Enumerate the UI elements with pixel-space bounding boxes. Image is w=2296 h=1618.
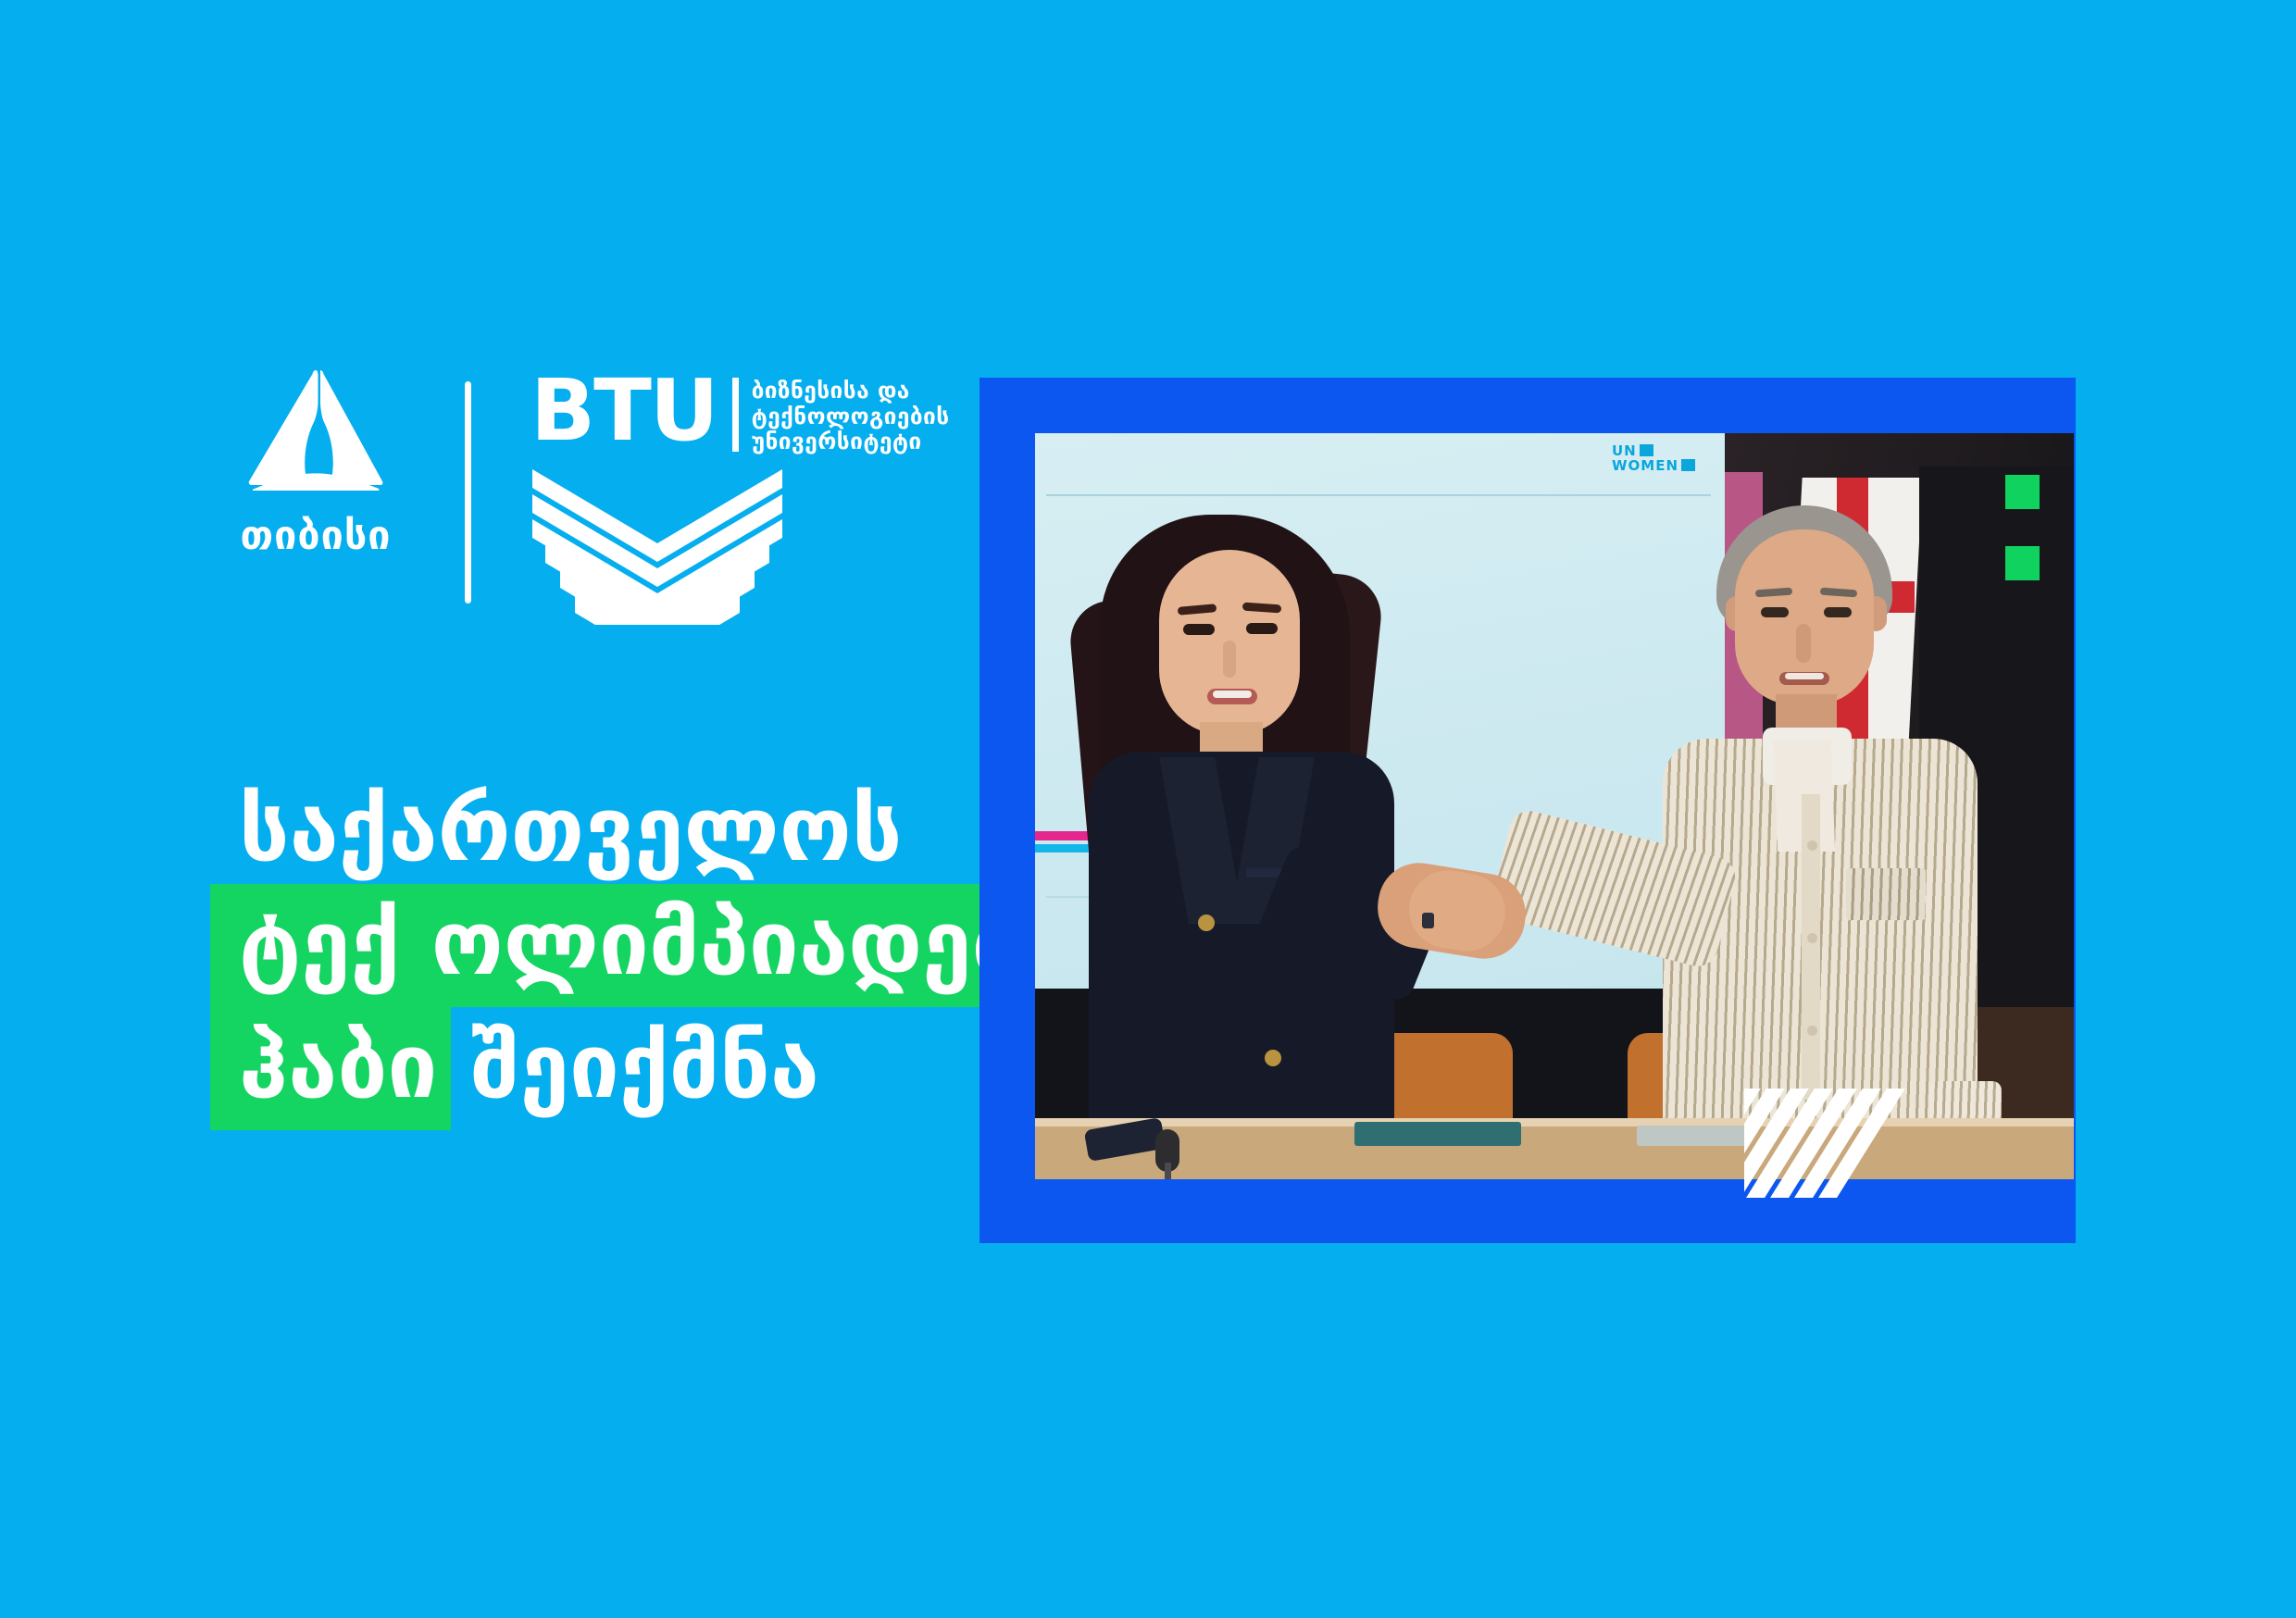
green-square-accent-2: [2005, 546, 2040, 580]
btu-subtitle: ბიზნესისა და ტექნოლოგიების უნივერსიტეტი: [752, 376, 950, 454]
headline-line-3-rest: შეიქმნა: [451, 1013, 819, 1121]
photo-scene: UN WOMEN <epam>: [1035, 433, 2074, 1179]
woman-eye-left: [1183, 624, 1215, 635]
man-shirt-pocket: [1846, 868, 1926, 920]
tbc-logo-block: თიბისი: [218, 368, 413, 556]
man-nose: [1796, 624, 1811, 663]
man-shirt-button-3: [1807, 1026, 1817, 1036]
man-shirt-button-1: [1807, 840, 1817, 851]
btu-subtitle-line-3: უნივერსიტეტი: [752, 428, 922, 454]
man-eye-left: [1761, 607, 1789, 617]
tbc-triangle-logo: [242, 368, 390, 491]
woman-ring: [1422, 913, 1434, 928]
handshake-photo: UN WOMEN <epam>: [1035, 433, 2074, 1179]
woman-teeth: [1213, 691, 1252, 698]
logo-divider: [465, 381, 471, 604]
signing-folder: [1354, 1122, 1521, 1146]
woman-nose: [1223, 641, 1236, 678]
un-women-logo-chip-2: [1681, 459, 1695, 471]
btu-logo-block: BTU ბიზნესისა და ტექნოლოგიების უნივერსიტ…: [530, 376, 950, 625]
brand-lockup: თიბისი BTU ბიზნესისა და ტექნოლოგიების უნ…: [218, 368, 950, 625]
woman-blazer-button-1: [1198, 915, 1215, 931]
btu-subtitle-line-1: ბიზნესისა და: [752, 377, 910, 404]
btu-inner-divider: [732, 378, 739, 452]
man-teeth: [1785, 673, 1824, 679]
btu-subtitle-line-2: ტექნოლოგიების: [752, 403, 950, 429]
tbc-logo-name: თიბისი: [241, 517, 392, 556]
screen-rule-top: [1046, 494, 1711, 496]
headline-line-3-highlight: ჰაბი: [210, 1007, 451, 1130]
woman-blazer-button-3: [1265, 1050, 1281, 1066]
man-shirt-button-2: [1807, 933, 1817, 943]
un-women-logo-women: WOMEN: [1612, 457, 1678, 474]
green-square-accent-1: [2005, 475, 2040, 509]
btu-wordmark-row: BTU ბიზნესისა და ტექნოლოგიების უნივერსიტ…: [530, 376, 950, 454]
un-women-logo: UN WOMEN: [1612, 444, 1695, 474]
un-women-logo-chip-1: [1640, 444, 1653, 456]
microphone-stand: [1165, 1163, 1171, 1179]
btu-wordmark: BTU: [530, 376, 717, 445]
man-eye-right: [1824, 607, 1852, 617]
diagonal-stripes-accent: [1744, 1089, 1959, 1198]
woman-eye-right: [1246, 623, 1278, 634]
document-sheet: [1637, 1126, 1748, 1146]
poster-canvas: თიბისი BTU ბიზნესისა და ტექნოლოგიების უნ…: [0, 0, 2296, 1618]
btu-chevron-logo: [532, 469, 782, 625]
